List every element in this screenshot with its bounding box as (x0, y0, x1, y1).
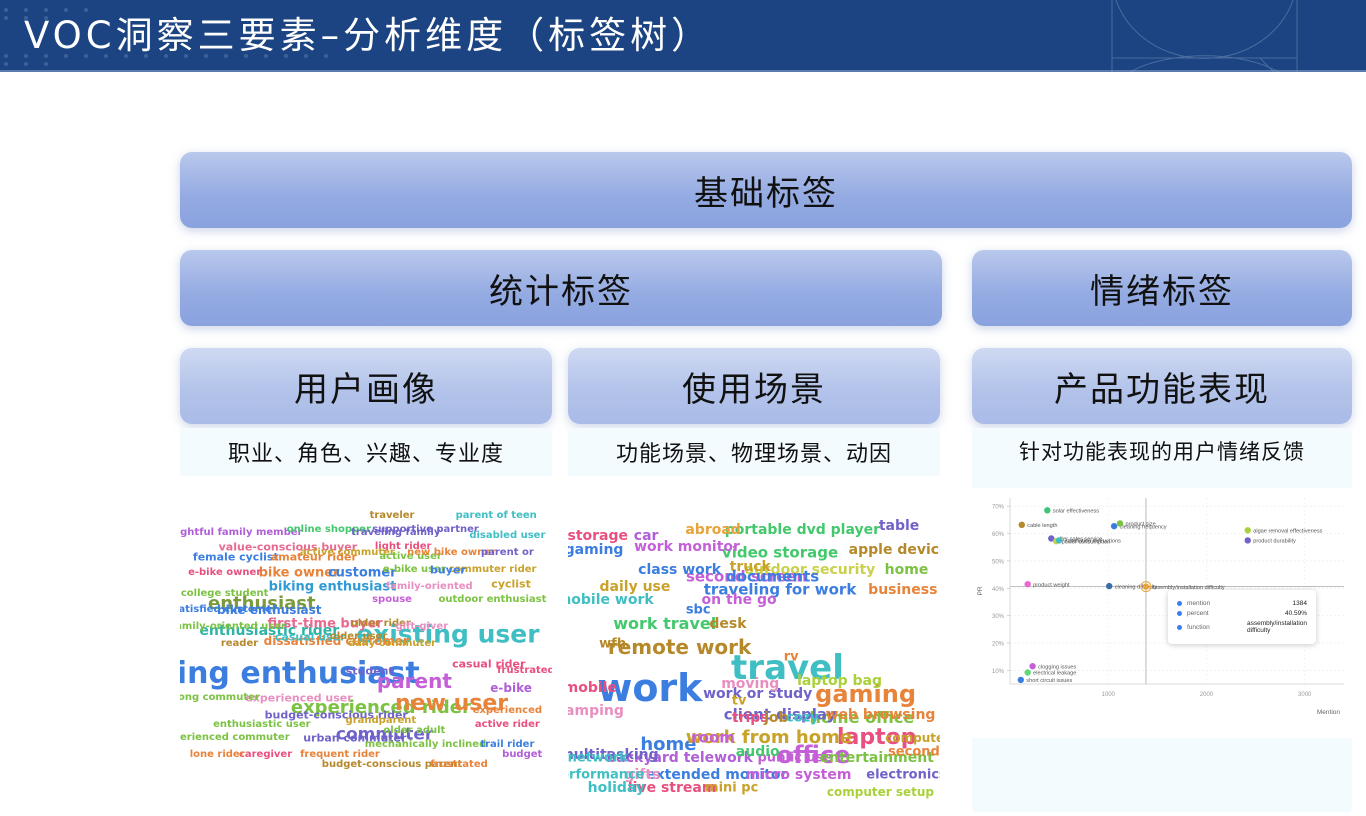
tooltip-row: mention1384 (1177, 600, 1307, 607)
y-tick-label: 50% (992, 559, 1005, 565)
tooltip-row: functionassembly/installation difficulty (1177, 620, 1307, 634)
wordcloud-word[interactable]: sbc (686, 604, 711, 617)
wordcloud-word[interactable]: apple devices (849, 543, 940, 557)
x-axis-title: Mention (1317, 709, 1341, 716)
y-tick-label: 70% (992, 505, 1005, 511)
y-axis-title: PR (977, 586, 984, 595)
wordcloud-word[interactable]: performance (568, 769, 645, 782)
tooltip-key: mention (1187, 600, 1245, 607)
wordcloud-word[interactable]: rv (784, 651, 799, 664)
wordcloud-word[interactable]: e-bike (490, 682, 532, 694)
box-product-feature[interactable]: 产品功能表现 (972, 348, 1352, 424)
wordcloud-word[interactable]: room (691, 731, 735, 746)
box-base-tag[interactable]: 基础标签 (180, 152, 1352, 228)
wordcloud-word[interactable]: daily commuter (348, 639, 436, 649)
wordcloud-word[interactable]: experienced commuter (180, 733, 290, 743)
wordcloud-word[interactable]: audio (736, 745, 780, 759)
wordcloud-word[interactable]: documents (726, 569, 819, 584)
wordcloud-word[interactable]: thoughtful family member (180, 528, 302, 538)
wordcloud-word[interactable]: experienced (473, 706, 542, 716)
box-emotion-tag[interactable]: 情绪标签 (972, 250, 1352, 326)
tooltip-dot-icon (1177, 601, 1182, 606)
wordcloud-word[interactable]: abroad (685, 523, 740, 537)
scatter-point[interactable] (1044, 507, 1050, 513)
chart-tooltip: mention1384percent40.59%functionassembly… (1168, 590, 1316, 644)
wordcloud-word[interactable]: remote work (608, 637, 751, 657)
wordcloud-word[interactable]: mini pc (705, 782, 758, 795)
scatter-point[interactable] (1019, 522, 1025, 528)
wordcloud-word[interactable]: frustrated (430, 760, 488, 770)
wordcloud-canvas-persona: cycling enthusiastexisting userenthusias… (180, 476, 552, 812)
scatter-point-label: cable length (1027, 523, 1057, 529)
wordcloud-word[interactable]: supportive partner (372, 525, 479, 535)
caption-product-feature: 针对功能表现的用户情绪反馈 (972, 436, 1352, 466)
wordcloud-word[interactable]: desk (709, 617, 746, 631)
wordcloud-word[interactable]: on the go (702, 593, 777, 607)
wordcloud-word[interactable]: experienced user (245, 692, 352, 703)
wordcloud-word[interactable]: parent or (481, 548, 534, 558)
wordcloud-word[interactable]: holiday (588, 781, 645, 795)
wordcloud-user-persona[interactable]: cycling enthusiastexisting userenthusias… (180, 476, 552, 812)
wordcloud-word[interactable]: outdoor enthusiast (439, 595, 547, 605)
box-statistic-tag[interactable]: 统计标签 (180, 250, 942, 326)
wordcloud-word[interactable]: female cyclist (193, 551, 279, 562)
page-header: VOC洞察三要素–分析维度（标签树） (0, 0, 1366, 72)
y-tick-label: 40% (992, 587, 1005, 593)
scatter-point-label: solar effectiveness (1053, 509, 1099, 515)
scatter-point-label: short circuit issues (1026, 678, 1072, 684)
scatter-point[interactable] (1018, 677, 1024, 683)
wordcloud-word[interactable]: buyer (430, 565, 466, 576)
wordcloud-word[interactable]: portable dvd player (725, 523, 880, 537)
wordcloud-word[interactable]: satisfied customer (180, 605, 277, 615)
scatter-point[interactable] (1143, 583, 1149, 589)
scatter-point[interactable] (1024, 581, 1030, 587)
scatter-point[interactable] (1056, 537, 1062, 543)
wordcloud-word[interactable]: job (764, 711, 788, 725)
tooltip-value: 40.59% (1245, 610, 1307, 617)
wordcloud-word[interactable]: student (346, 665, 394, 676)
wordcloud-word[interactable]: cyclist (491, 578, 531, 589)
wordcloud-word[interactable]: college student (181, 589, 269, 599)
wordcloud-word[interactable]: disabled user (469, 531, 545, 541)
wordcloud-word[interactable]: tv (732, 695, 747, 708)
caption-user-persona: 职业、角色、兴趣、专业度 (180, 436, 552, 468)
wordcloud-word[interactable]: e-bike owner (188, 568, 261, 578)
wordcloud-word[interactable]: web browsing (826, 708, 936, 722)
wordcloud-word[interactable]: computer (885, 732, 940, 744)
wordcloud-word[interactable]: electronics (866, 769, 940, 782)
scatter-point[interactable] (1245, 527, 1251, 533)
wordcloud-word[interactable]: second (888, 745, 940, 758)
wordcloud-word[interactable]: wfh (599, 638, 626, 651)
scatter-point[interactable] (1111, 523, 1117, 529)
scatter-point-label: product durability (1253, 539, 1296, 545)
box-usage-scene[interactable]: 使用场景 (568, 348, 940, 424)
wordcloud-word[interactable]: biking enthusiast (269, 580, 397, 593)
wordcloud-word[interactable]: home (885, 563, 929, 577)
wordcloud-word[interactable]: mobile (568, 681, 617, 695)
scatter-point-label: product size (1126, 522, 1156, 528)
wordcloud-word[interactable]: computer setup (827, 786, 934, 798)
scatter-point[interactable] (1245, 537, 1251, 543)
scatter-point[interactable] (1106, 583, 1112, 589)
wordcloud-word[interactable]: enthusiastic user (213, 720, 310, 730)
wordcloud-word[interactable]: micro system (746, 768, 852, 782)
scatter-point[interactable] (1024, 669, 1030, 675)
wordcloud-canvas-scene: worktravelgamingofficelaptopremote workh… (568, 476, 940, 812)
tooltip-dot-icon (1177, 611, 1182, 616)
page-title: VOC洞察三要素–分析维度（标签树） (24, 8, 712, 64)
y-tick-label: 10% (992, 669, 1005, 675)
wordcloud-word[interactable]: traveler (370, 511, 415, 521)
box-user-persona[interactable]: 用户画像 (180, 348, 552, 424)
wordcloud-word[interactable]: budget (502, 750, 542, 760)
wordcloud-word[interactable]: work travel (613, 616, 716, 632)
wordcloud-word[interactable]: gaming (568, 543, 623, 557)
wordcloud-word[interactable]: mobile work (568, 593, 654, 607)
panel-user-persona: 职业、角色、兴趣、专业度 cycling enthusiastexisting … (180, 428, 552, 812)
scatter-point-label: installation instructions (1065, 539, 1121, 545)
wordcloud-word[interactable]: amateur rider (271, 551, 357, 562)
scatter-point[interactable] (1029, 663, 1035, 669)
panel-usage-scene: 功能场景、物理场景、动因 worktravelgamingofficelapto… (568, 428, 940, 812)
wordcloud-word[interactable]: gift-giver (395, 622, 448, 632)
wordcloud-word[interactable]: reader (221, 639, 258, 649)
x-tick-label: 1000 (1102, 692, 1116, 698)
y-tick-label: 30% (992, 614, 1005, 620)
x-tick-label: 2000 (1200, 692, 1214, 698)
y-tick-label: 60% (992, 532, 1005, 538)
wordcloud-word[interactable]: long commuter (180, 693, 260, 703)
tooltip-value: assembly/installation difficulty (1241, 620, 1307, 634)
wordcloud-word[interactable]: camping (568, 704, 624, 718)
wordcloud-word[interactable]: table (879, 519, 919, 533)
scatter-point-label: electrical leakage (1033, 671, 1076, 677)
tooltip-value: 1384 (1245, 600, 1307, 607)
wordcloud-word[interactable]: parent of teen (456, 511, 537, 521)
wordcloud-word[interactable]: class work (638, 563, 721, 577)
wordcloud-word[interactable]: frustrated (497, 666, 552, 676)
wordcloud-word[interactable]: laptop bag (797, 674, 882, 688)
wordcloud-word[interactable]: lone rider (190, 750, 245, 760)
header-geometric-decoration (1000, 0, 1366, 72)
wordcloud-usage-scene[interactable]: worktravelgamingofficelaptopremote workh… (568, 476, 940, 812)
scatter-point[interactable] (1117, 520, 1123, 526)
panel-product-feature: 针对功能表现的用户情绪反馈 10%20%30%40%50%60%70%10002… (972, 428, 1352, 812)
caption-usage-scene: 功能场景、物理场景、动因 (568, 436, 940, 468)
scatter-point-label: product weight (1033, 582, 1070, 588)
wordcloud-word[interactable]: mechanically inclined (365, 740, 486, 750)
scatter-point-label: clogging issues (1038, 664, 1076, 670)
wordcloud-word[interactable]: network (568, 752, 628, 765)
wordcloud-word[interactable]: car (634, 529, 659, 543)
wordcloud-word[interactable]: moving (721, 677, 779, 691)
scatter-chart-product-feature[interactable]: 10%20%30%40%50%60%70%100020003000solar e… (972, 488, 1352, 738)
wordcloud-word[interactable]: family-oriented (386, 582, 473, 592)
scatter-point-label: algae removal effectiveness (1253, 528, 1322, 534)
tooltip-row: percent40.59% (1177, 610, 1307, 617)
wordcloud-word[interactable]: spouse (372, 595, 412, 605)
y-tick-label: 20% (992, 641, 1005, 647)
header-underline (0, 70, 1366, 72)
tooltip-key: function (1187, 624, 1241, 631)
wordcloud-word[interactable]: caregiver (239, 750, 292, 760)
wordcloud-word[interactable]: family-oriented user (180, 622, 286, 632)
tooltip-dot-icon (1177, 625, 1182, 630)
tooltip-key: percent (1187, 610, 1245, 617)
x-tick-label: 3000 (1298, 692, 1312, 698)
wordcloud-word[interactable]: active rider (475, 720, 540, 730)
wordcloud-word[interactable]: business (868, 583, 937, 597)
wordcloud-word[interactable]: cozy (786, 711, 819, 724)
